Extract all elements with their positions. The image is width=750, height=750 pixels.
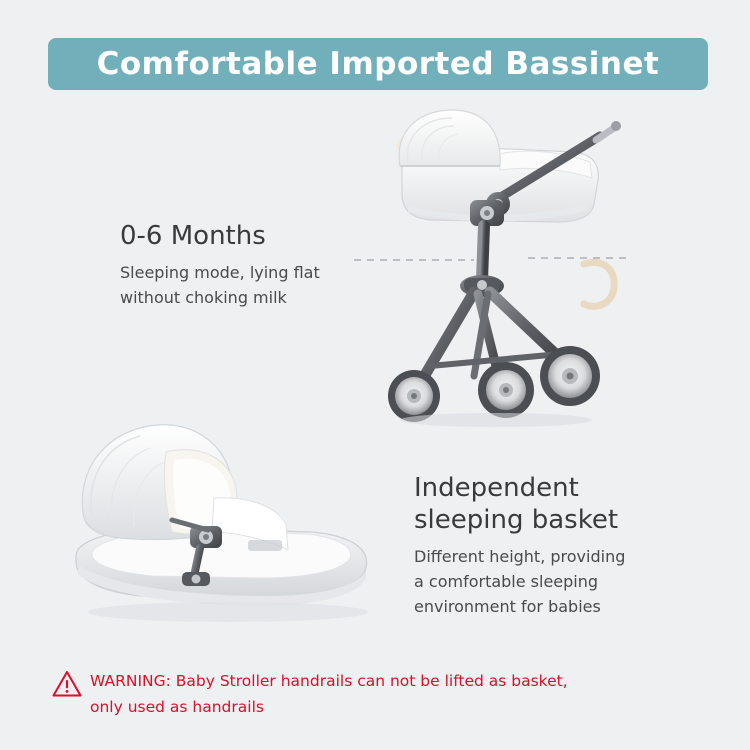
wheel-rear: [388, 370, 440, 422]
feature-heading-months: 0-6 Months: [120, 220, 370, 252]
warning-notice: WARNING: Baby Stroller handrails can not…: [52, 668, 712, 720]
stroller-illustration: [378, 108, 630, 428]
wheel-front-inner: [478, 362, 534, 418]
warning-text: WARNING: Baby Stroller handrails can not…: [90, 668, 568, 720]
feature-heading-basket: Independent sleeping basket: [414, 472, 714, 536]
bassinet-photo: [62, 400, 392, 640]
feature-body-basket: Different height, providing a comfortabl…: [414, 544, 714, 619]
stroller-photo: [378, 108, 630, 428]
bassinet-illustration: [62, 400, 392, 640]
warning-triangle-icon: [52, 670, 82, 697]
header-banner: Comfortable Imported Bassinet: [48, 38, 708, 90]
feature-block-basket: Independent sleeping basket Different he…: [414, 472, 714, 619]
feature-block-months: 0-6 Months Sleeping mode, lying flat wit…: [120, 220, 370, 310]
wheel-front-outer: [540, 346, 600, 406]
feature-body-months: Sleeping mode, lying flat without chokin…: [120, 260, 370, 310]
page-title: Comfortable Imported Bassinet: [97, 46, 660, 82]
